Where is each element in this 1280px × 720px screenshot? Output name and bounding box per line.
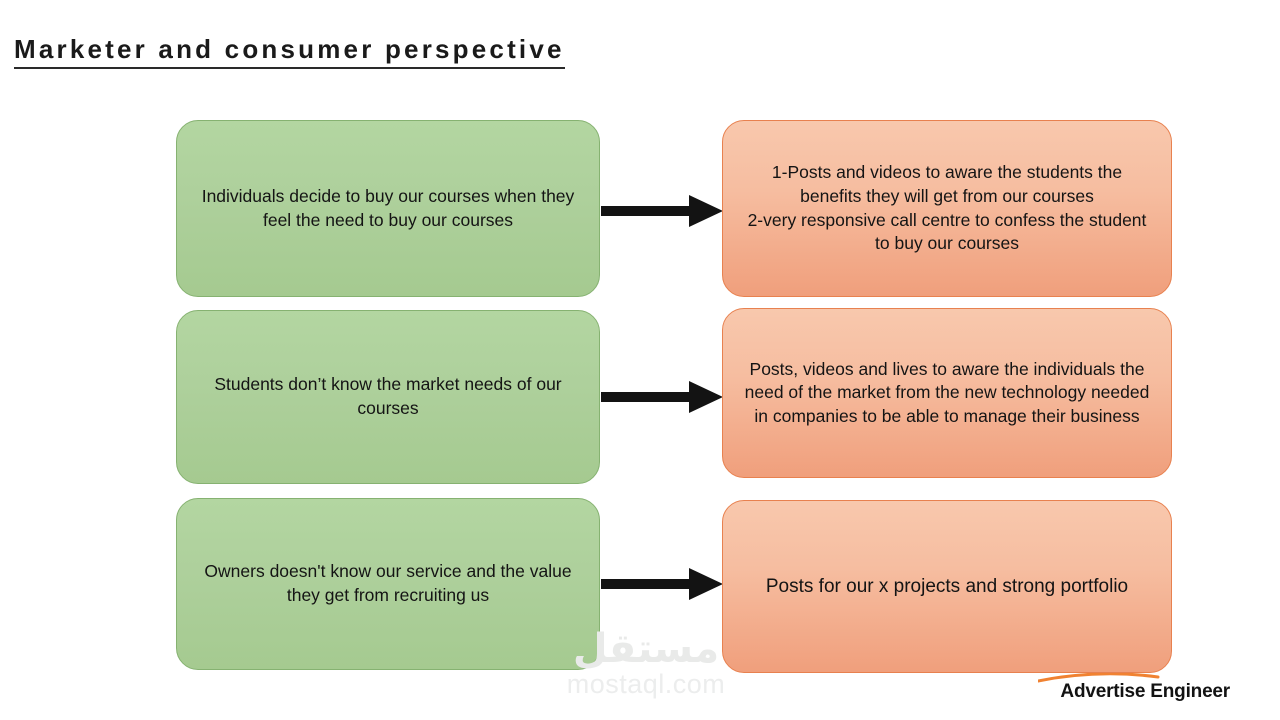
arrow-right-icon-3 — [601, 566, 724, 602]
arrow-right-icon-1 — [601, 193, 724, 229]
solution-box-3-text: Posts for our x projects and strong port… — [739, 574, 1155, 600]
problem-box-1-text: Individuals decide to buy our courses wh… — [193, 185, 583, 232]
arrow-right-icon-2 — [601, 379, 724, 415]
problem-box-2-text: Students don’t know the market needs of … — [193, 373, 583, 420]
page-title: Marketer and consumer perspective — [14, 36, 565, 69]
solution-box-1-text: 1-Posts and videos to aware the students… — [739, 161, 1155, 256]
problem-box-3-text: Owners doesn't know our service and the … — [193, 560, 583, 607]
solution-box-2[interactable]: Posts, videos and lives to aware the ind… — [722, 308, 1172, 478]
solution-box-1[interactable]: 1-Posts and videos to aware the students… — [722, 120, 1172, 297]
slide-canvas: Marketer and consumer perspective Indivi… — [0, 0, 1280, 720]
problem-box-1[interactable]: Individuals decide to buy our courses wh… — [176, 120, 600, 297]
problem-box-2[interactable]: Students don’t know the market needs of … — [176, 310, 600, 484]
brand-label: Advertise Engineer — [1060, 681, 1230, 703]
problem-box-3[interactable]: Owners doesn't know our service and the … — [176, 498, 600, 670]
watermark-latin-text: mostaql.com — [556, 670, 736, 700]
solution-box-3[interactable]: Posts for our x projects and strong port… — [722, 500, 1172, 673]
solution-box-2-text: Posts, videos and lives to aware the ind… — [739, 358, 1155, 429]
